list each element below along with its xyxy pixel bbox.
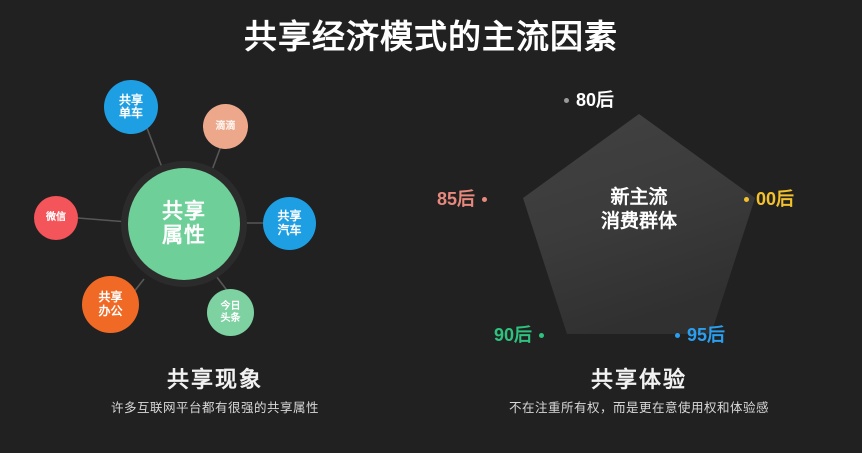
pentagon-center-label: 新主流 消费群体 <box>539 186 739 234</box>
right-caption-subtitle: 不在注重所有权，而是更在意使用权和体验感 <box>432 398 846 418</box>
bubble-shared-car[interactable]: 共享 汽车 <box>263 197 316 250</box>
vertex-text-95hou: 95后 <box>687 326 725 344</box>
connector-line-bike <box>147 128 166 178</box>
left-caption-title: 共享现象 <box>16 366 414 394</box>
bubble-shared-office-label: 共享 办公 <box>98 291 122 318</box>
vertex-label-95hou[interactable]: 95后 <box>675 326 725 344</box>
bubble-shared-car-label: 共享 汽车 <box>277 210 301 237</box>
pentagon-diagram: 新主流 消费群体 80后 85后 00后 90后 95后 <box>432 78 846 368</box>
bubble-wechat-label: 微信 <box>46 212 66 223</box>
connector-line-wechat <box>78 218 128 222</box>
vertex-label-00hou[interactable]: 00后 <box>744 190 794 208</box>
bubble-shared-bike[interactable]: 共享 单车 <box>104 80 158 134</box>
vertex-label-85hou[interactable]: 85后 <box>437 190 487 208</box>
infographic-slide: 共享经济模式的主流因素 共享 属性 共享 单车 滴滴 <box>0 0 862 453</box>
bubble-wechat[interactable]: 微信 <box>34 196 78 240</box>
vertex-dot-80hou <box>564 98 569 103</box>
left-panel: 共享 属性 共享 单车 滴滴 微信 共享 汽车 共享 办公 今日 头条 <box>16 78 414 368</box>
bubble-shared-attribute[interactable]: 共享 属性 <box>128 168 240 280</box>
left-caption-subtitle: 许多互联网平台都有很强的共享属性 <box>16 398 414 418</box>
bubble-toutiao[interactable]: 今日 头条 <box>207 289 254 336</box>
vertex-dot-00hou <box>744 197 749 202</box>
vertex-dot-95hou <box>675 333 680 338</box>
vertex-dot-85hou <box>482 197 487 202</box>
bubble-shared-bike-label: 共享 单车 <box>119 94 143 121</box>
bubble-shared-attribute-label: 共享 属性 <box>162 200 206 247</box>
left-caption: 共享现象 许多互联网平台都有很强的共享属性 <box>16 366 414 418</box>
bubble-didi[interactable]: 滴滴 <box>203 104 248 149</box>
vertex-text-85hou: 85后 <box>437 190 475 208</box>
vertex-text-00hou: 00后 <box>756 190 794 208</box>
bubble-toutiao-label: 今日 头条 <box>221 301 241 323</box>
vertex-text-90hou: 90后 <box>494 326 532 344</box>
bubble-shared-office[interactable]: 共享 办公 <box>82 276 139 333</box>
page-title: 共享经济模式的主流因素 <box>0 16 862 58</box>
right-panel: 新主流 消费群体 80后 85后 00后 90后 95后 <box>432 78 846 368</box>
vertex-label-90hou[interactable]: 90后 <box>494 326 544 344</box>
bubble-diagram: 共享 属性 共享 单车 滴滴 微信 共享 汽车 共享 办公 今日 头条 <box>16 78 414 368</box>
right-caption-title: 共享体验 <box>432 366 846 394</box>
vertex-dot-90hou <box>539 333 544 338</box>
vertex-label-80hou[interactable]: 80后 <box>564 91 614 109</box>
vertex-text-80hou: 80后 <box>576 91 614 109</box>
bubble-didi-label: 滴滴 <box>216 121 236 132</box>
right-caption: 共享体验 不在注重所有权，而是更在意使用权和体验感 <box>432 366 846 418</box>
